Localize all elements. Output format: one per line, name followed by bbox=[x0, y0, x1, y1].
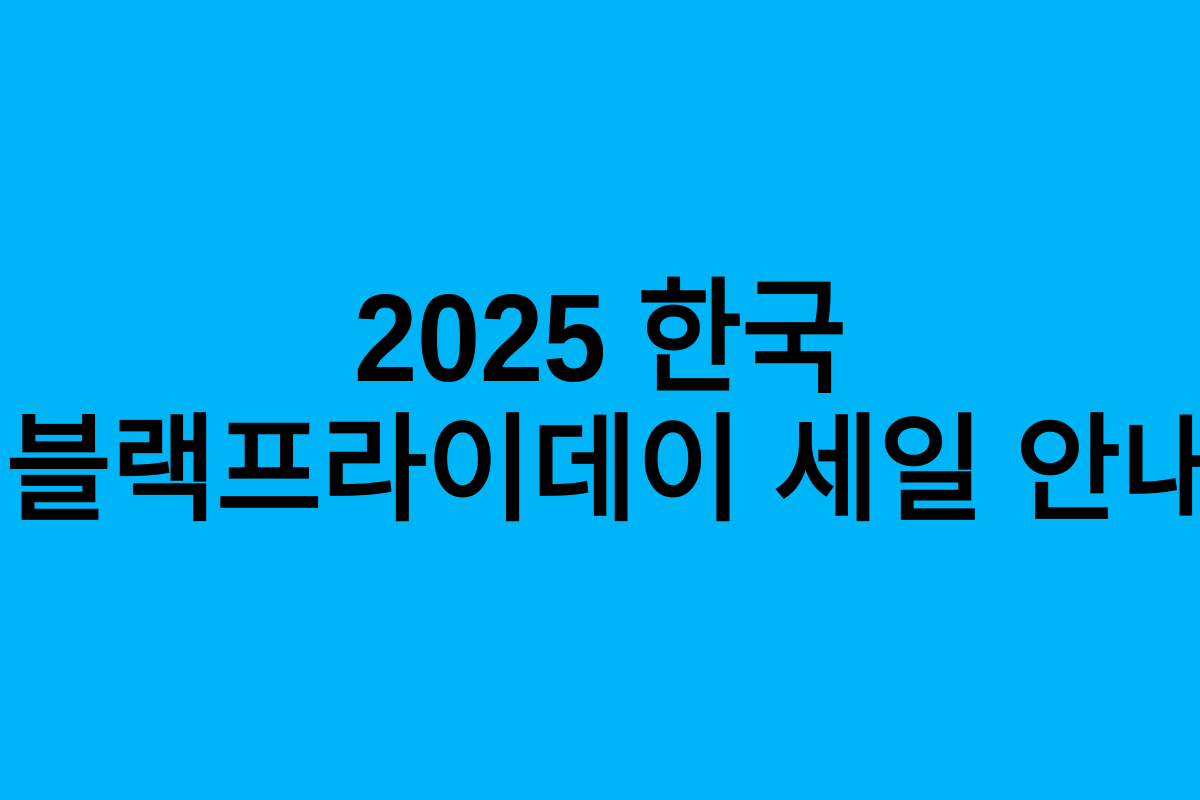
headline-line-1: 2025 한국 bbox=[48, 280, 1152, 398]
promo-banner: 2025 한국 블랙프라이데이 세일 안내 bbox=[0, 0, 1200, 800]
headline-line-2: 블랙프라이데이 세일 안내 bbox=[6, 414, 1194, 526]
page-title: 2025 한국 블랙프라이데이 세일 안내 bbox=[0, 280, 1200, 526]
